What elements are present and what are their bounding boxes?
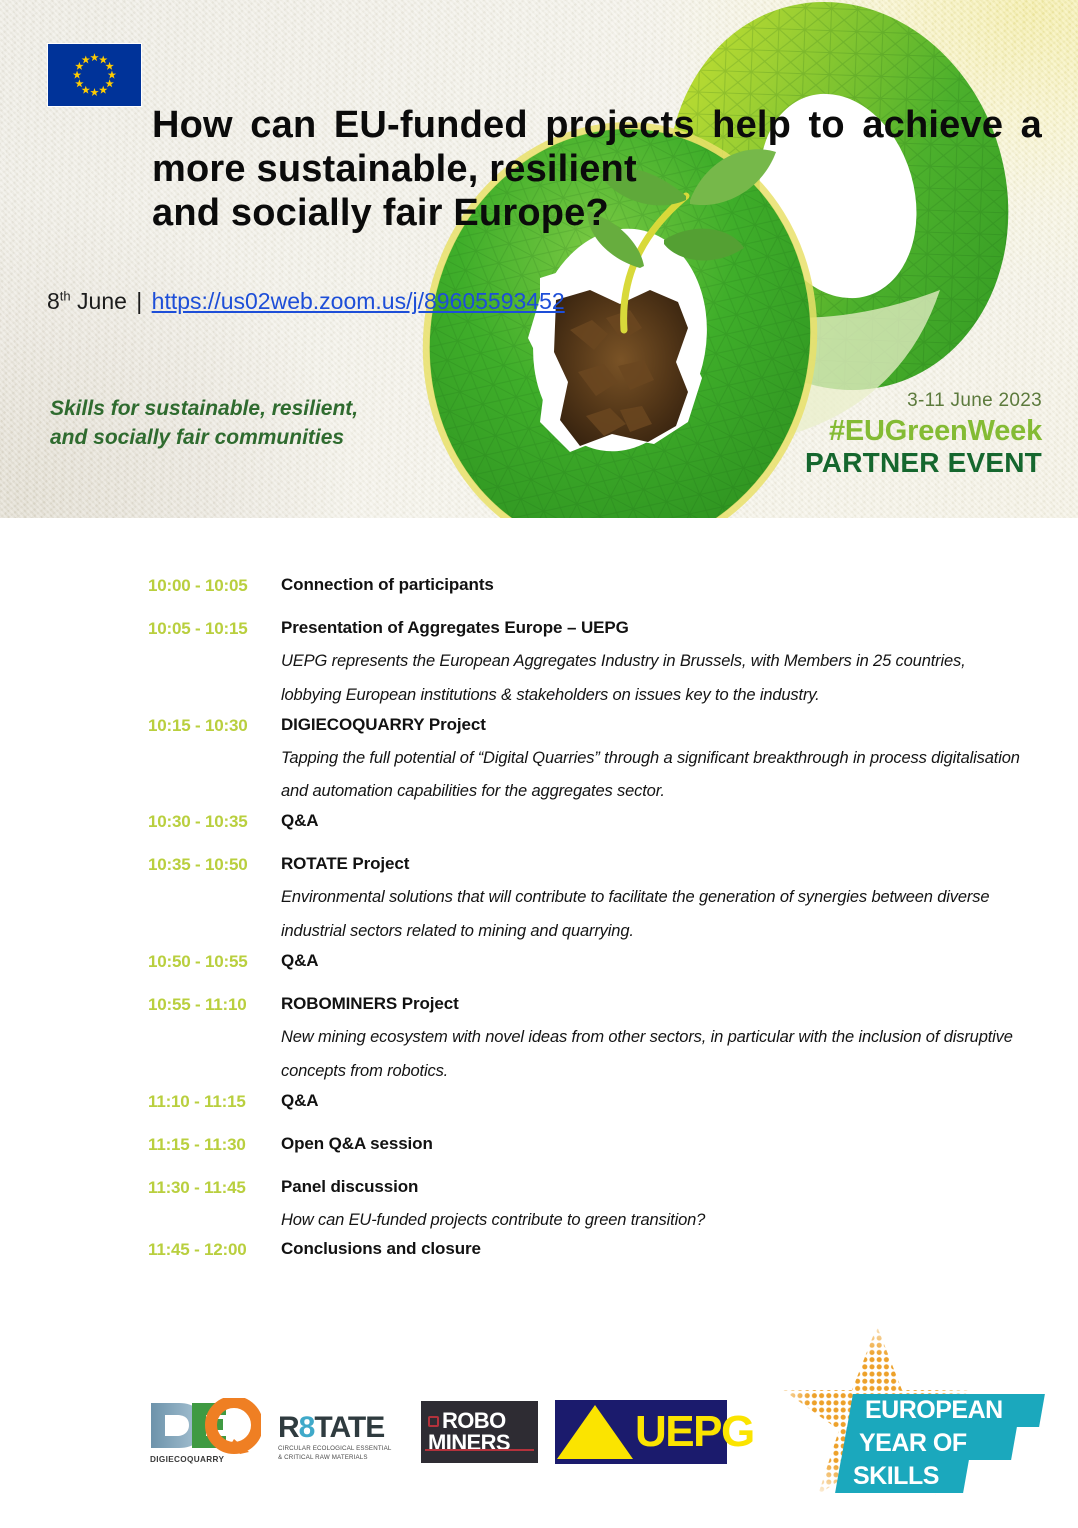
triangle-icon: [557, 1405, 633, 1459]
european-union-flag: [47, 43, 142, 107]
agenda-row: 10:50 - 10:55 Q&A: [0, 951, 1078, 972]
robominers-line-2: MINERS: [428, 1432, 538, 1454]
agenda-time: 11:15 - 11:30: [148, 1134, 281, 1155]
robominers-logo: ROBO MINERS: [421, 1401, 538, 1463]
uepg-wordmark: UEPG: [635, 1410, 754, 1454]
rotate-wordmark: R8TATE: [278, 1411, 384, 1445]
agenda-topic: ROBOMINERS Project: [281, 994, 1078, 1014]
green-week-hashtag: #EUGreenWeek: [702, 416, 1042, 447]
agenda-row: 11:45 - 12:00 Conclusions and closure: [0, 1239, 1078, 1260]
eys-line-2: YEAR OF: [859, 1429, 967, 1458]
agenda-topic: Presentation of Aggregates Europe – UEPG: [281, 618, 1078, 638]
agenda-topic: Q&A: [281, 951, 1078, 971]
partner-event-label: PARTNER EVENT: [702, 447, 1042, 478]
agenda-row: 10:35 - 10:50 ROTATE Project: [0, 854, 1078, 875]
agenda-time: 11:45 - 12:00: [148, 1239, 281, 1260]
agenda-time: 10:35 - 10:50: [148, 854, 281, 875]
agenda-topic: Panel discussion: [281, 1177, 1078, 1197]
event-month: June: [71, 288, 134, 314]
eu-green-week-branding: 3-11 June 2023 #EUGreenWeek PARTNER EVEN…: [702, 390, 1042, 479]
agenda-row: 10:00 - 10:05 Connection of participants: [0, 575, 1078, 596]
robominers-text-robo: ROBO: [442, 1408, 506, 1433]
agenda-time: 10:50 - 10:55: [148, 951, 281, 972]
agenda-topic: Conclusions and closure: [281, 1239, 1078, 1259]
agenda-row: 10:55 - 11:10 ROBOMINERS Project: [0, 994, 1078, 1015]
agenda-row: 10:30 - 10:35 Q&A: [0, 811, 1078, 832]
rotate-letter-r: R: [278, 1411, 299, 1444]
event-day: 8: [47, 288, 60, 314]
event-tagline: Skills for sustainable, resilient, and s…: [50, 395, 370, 453]
rotate-subtitle-line-3: & CRITICAL RAW MATERIALS: [278, 1454, 368, 1461]
eys-line-3: SKILLS: [853, 1462, 939, 1491]
agenda-row: 11:30 - 11:45 Panel discussion: [0, 1177, 1078, 1198]
partner-logos: DIGIECOQUARRY R8TATE CIRCULAR ECOLOGICAL…: [148, 1398, 727, 1466]
rotate-subtitle: CIRCULAR ECOLOGICAL ESSENTIAL & CRITICAL…: [278, 1445, 402, 1463]
agenda-time: 10:55 - 11:10: [148, 994, 281, 1015]
agenda-time: 10:30 - 10:35: [148, 811, 281, 832]
event-date-and-link: 8th June | https://us02web.zoom.us/j/896…: [47, 288, 565, 315]
agenda-description: How can EU-funded projects contribute to…: [0, 1204, 1078, 1238]
agenda-time: 11:10 - 11:15: [148, 1091, 281, 1112]
title-line-3: and socially fair Europe?: [152, 191, 1042, 235]
robominers-line-1: ROBO: [428, 1410, 538, 1432]
rotate-logo: R8TATE CIRCULAR ECOLOGICAL ESSENTIAL & C…: [278, 1398, 404, 1466]
eys-line-1: EUROPEAN: [865, 1396, 1003, 1425]
agenda-description: Tapping the full potential of “Digital Q…: [0, 742, 1078, 810]
eu-stars: [48, 44, 141, 106]
agenda-topic: Q&A: [281, 1091, 1078, 1111]
agenda-time: 10:05 - 10:15: [148, 618, 281, 639]
event-day-ordinal: th: [60, 288, 71, 303]
title-line-1: How can EU-funded projects help to: [152, 104, 845, 146]
rotate-infinity-eight: 8: [299, 1411, 315, 1444]
agenda-time: 10:15 - 10:30: [148, 715, 281, 736]
european-year-of-skills-logo: EUROPEAN YEAR OF SKILLS: [782, 1320, 1052, 1510]
agenda-list: 10:00 - 10:05 Connection of participants…: [0, 575, 1078, 1260]
header-banner: How can EU-funded projects help to achie…: [0, 0, 1078, 518]
deq-mark: [148, 1398, 261, 1454]
agenda-description: UEPG represents the European Aggregates …: [0, 645, 1078, 713]
agenda-topic: ROTATE Project: [281, 854, 1078, 874]
rotate-letters-tate: TATE: [314, 1411, 384, 1444]
digiecoquarry-logo: DIGIECOQUARRY: [148, 1398, 261, 1466]
hexagon-icon: [428, 1416, 439, 1427]
red-rule: [425, 1449, 534, 1451]
eys-band-2: YEAR OF: [841, 1427, 1017, 1460]
agenda-description: New mining ecosystem with novel ideas fr…: [0, 1021, 1078, 1089]
agenda-time: 10:00 - 10:05: [148, 575, 281, 596]
eys-band-1: EUROPEAN: [847, 1394, 1045, 1427]
rotate-subtitle-line-1: CIRCULAR: [278, 1445, 311, 1452]
agenda-time: 11:30 - 11:45: [148, 1177, 281, 1198]
agenda-topic: DIGIECOQUARRY Project: [281, 715, 1078, 735]
page-title: How can EU-funded projects help to achie…: [152, 103, 1042, 235]
agenda-description: Environmental solutions that will contri…: [0, 881, 1078, 949]
separator: |: [133, 288, 145, 314]
poster-page: How can EU-funded projects help to achie…: [0, 0, 1078, 1528]
agenda-row: 10:15 - 10:30 DIGIECOQUARRY Project: [0, 715, 1078, 736]
agenda-row: 10:05 - 10:15 Presentation of Aggregates…: [0, 618, 1078, 639]
agenda-topic: Open Q&A session: [281, 1134, 1078, 1154]
digiecoquarry-caption: DIGIECOQUARRY: [150, 1455, 224, 1464]
eys-band-3: SKILLS: [835, 1460, 969, 1493]
rotate-subtitle-line-2: ECOLOGICAL ESSENTIAL: [313, 1445, 392, 1452]
uepg-logo: UEPG: [555, 1400, 727, 1464]
green-week-dates: 3-11 June 2023: [702, 390, 1042, 412]
agenda-row: 11:15 - 11:30 Open Q&A session: [0, 1134, 1078, 1155]
agenda-topic: Q&A: [281, 811, 1078, 831]
zoom-meeting-link[interactable]: https://us02web.zoom.us/j/89605593452: [152, 288, 565, 314]
agenda-topic: Connection of participants: [281, 575, 1078, 595]
agenda-row: 11:10 - 11:15 Q&A: [0, 1091, 1078, 1112]
